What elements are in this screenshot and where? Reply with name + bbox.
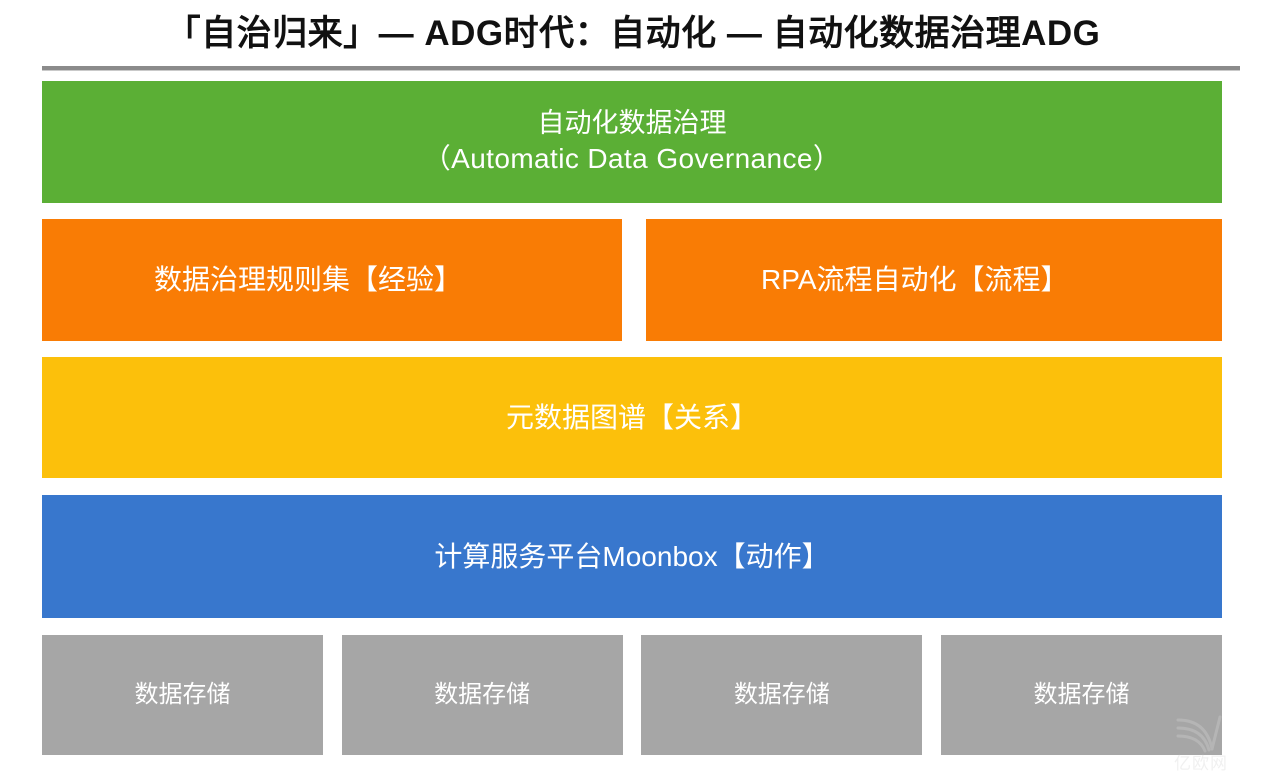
layer-governance-rule-set-label: 数据治理规则集【经验】 [154, 266, 462, 294]
storage-box-label: 数据存储 [734, 683, 830, 707]
storage-box: 数据存储 [342, 635, 623, 755]
slide-title-bar: 「自治归来」— ADG时代：自动化 — 自动化数据治理ADG [0, 0, 1266, 66]
storage-box-label: 数据存储 [135, 683, 231, 707]
banner-title-en: （Automatic Data Governance） [423, 141, 842, 178]
storage-box: 数据存储 [641, 635, 922, 755]
watermark-text: 亿欧网 [1174, 755, 1228, 772]
storage-box: 数据存储 [42, 635, 323, 755]
layer-governance-rule-set: 数据治理规则集【经验】 [42, 219, 622, 341]
layer-automatic-data-governance: 自动化数据治理 （Automatic Data Governance） [42, 81, 1222, 203]
slide-canvas: 「自治归来」— ADG时代：自动化 — 自动化数据治理ADG 自动化数据治理 （… [0, 0, 1266, 778]
page-title: 「自治归来」— ADG时代：自动化 — 自动化数据治理ADG [166, 16, 1101, 51]
storage-box-label: 数据存储 [434, 683, 530, 707]
banner-title-cn: 自动化数据治理 [538, 106, 727, 142]
layer-rpa-automation: RPA流程自动化【流程】 [646, 219, 1222, 341]
layer-compute-platform-moonbox-label: 计算服务平台Moonbox【动作】 [434, 543, 829, 571]
title-divider [42, 66, 1240, 71]
storage-box-label: 数据存储 [1033, 683, 1129, 707]
storage-box: 数据存储 [941, 635, 1222, 755]
layer-compute-platform-moonbox: 计算服务平台Moonbox【动作】 [42, 495, 1222, 618]
layer-rpa-automation-label: RPA流程自动化【流程】 [761, 266, 1069, 294]
layer-metadata-graph: 元数据图谱【关系】 [42, 357, 1222, 478]
layer-metadata-graph-label: 元数据图谱【关系】 [506, 404, 758, 432]
storage-layer-row: 数据存储 数据存储 数据存储 数据存储 [42, 635, 1222, 755]
